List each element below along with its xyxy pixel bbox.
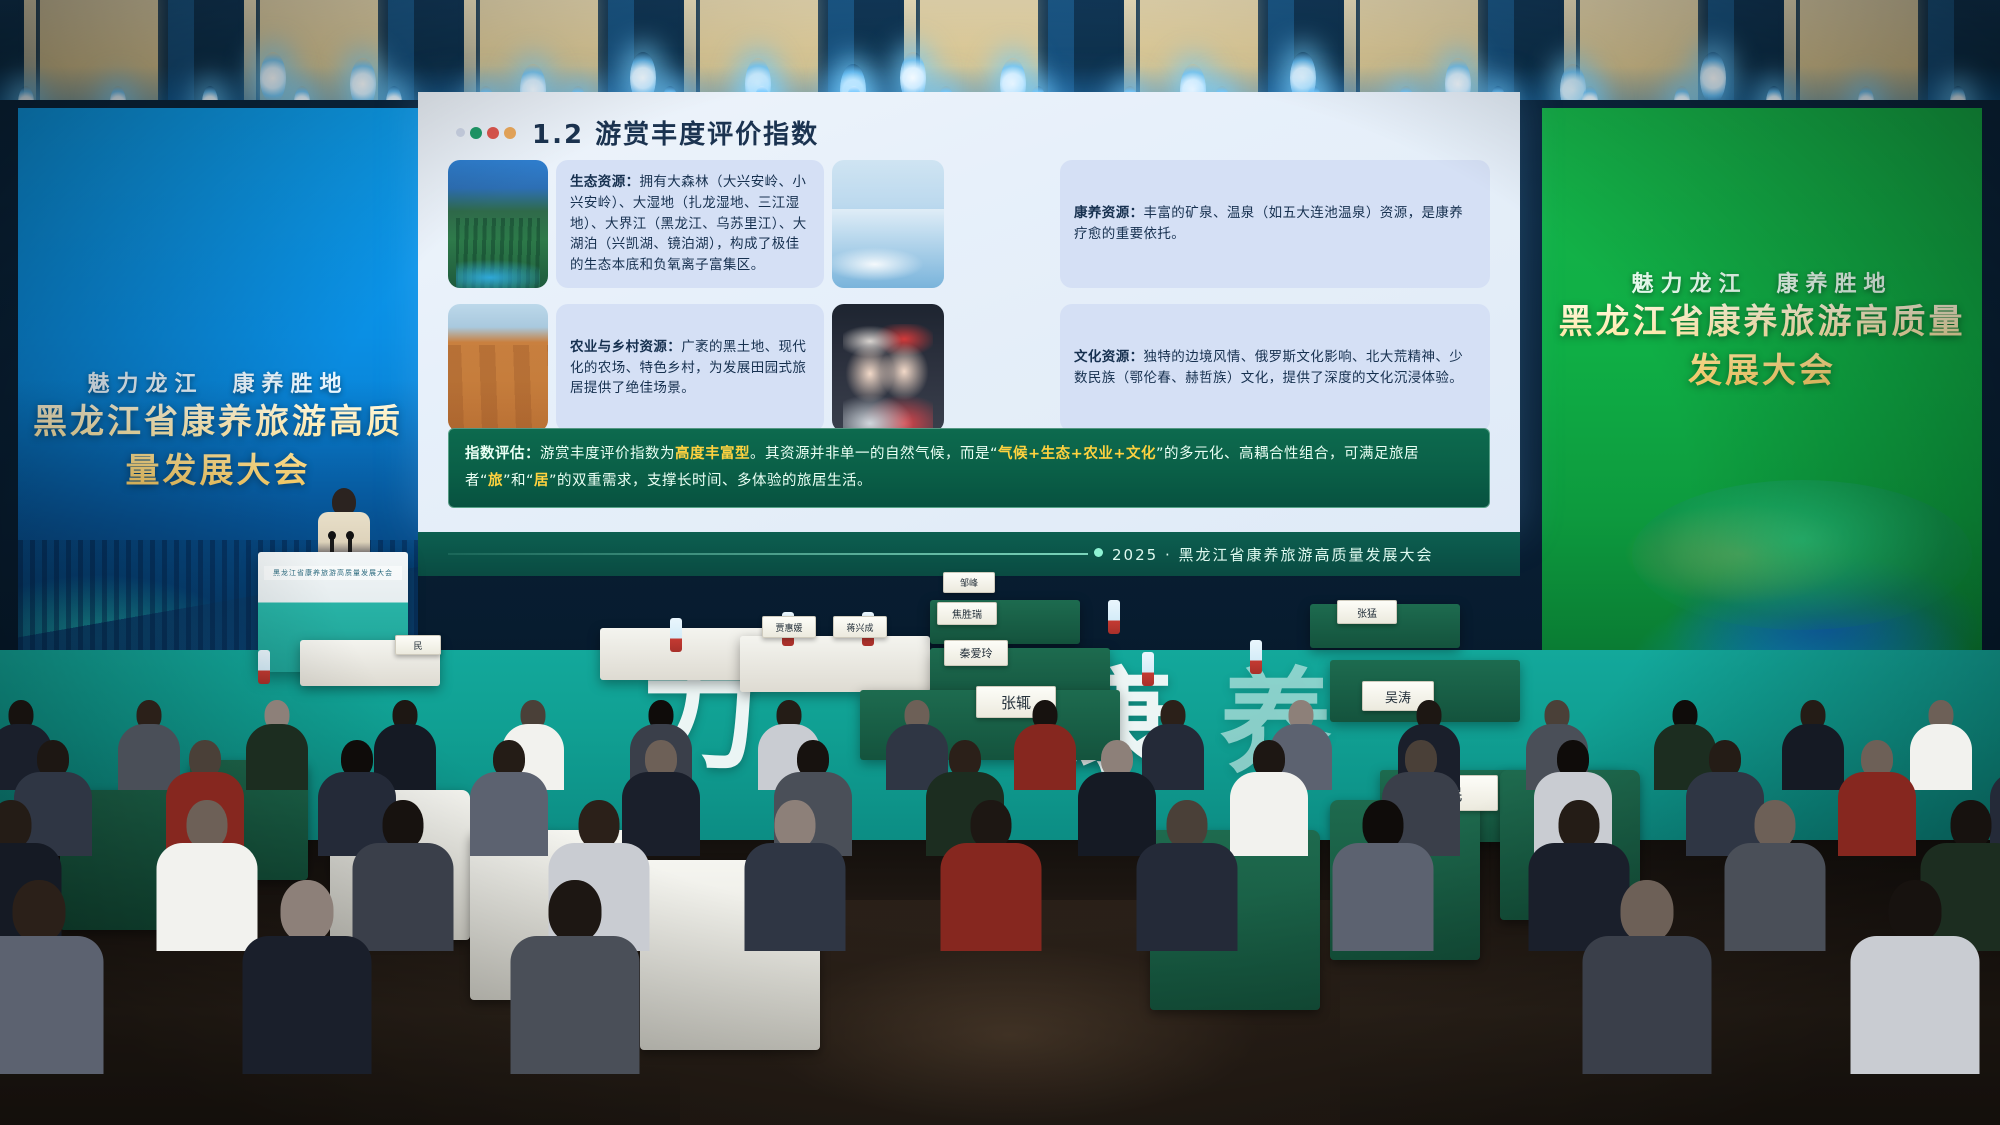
- bullet-dot-1: [456, 128, 465, 137]
- audience-head: [1558, 800, 1599, 849]
- led-left-title: 黑龙江省康养旅游高质量发展大会: [18, 394, 418, 492]
- name-placard-text: 秦爱玲: [960, 645, 993, 661]
- water-bottle: [258, 650, 270, 684]
- audience-shoulders: [246, 724, 308, 790]
- water-bottle: [1108, 600, 1120, 634]
- audience-shoulders: [1838, 772, 1916, 856]
- summary-highlight1: 高度丰富型: [675, 446, 750, 462]
- audience-head: [280, 880, 333, 942]
- name-placard: 蒋兴成: [833, 616, 887, 638]
- led-right-island-art: [1632, 480, 1972, 630]
- audience-shoulders: [1230, 772, 1308, 856]
- audience-member: [242, 880, 371, 1080]
- index-assessment-box: 指数评估：游赏丰度评价指数为高度丰富型。其资源并非单一的自然气候，而是“气候+生…: [448, 428, 1490, 508]
- hot-spring-photo: [832, 160, 944, 288]
- card-agriculture: 农业与乡村资源：广袤的黑土地、现代化的农场、特色乡村，为发展田园式旅居提供了绝佳…: [556, 304, 824, 432]
- water-bottle: [670, 618, 682, 652]
- summary-part4: ”和“: [503, 473, 534, 489]
- audience-shoulders: [0, 936, 103, 1074]
- name-placard: 邹峰: [943, 572, 995, 593]
- audience-head: [578, 800, 619, 849]
- audience-shoulders: [510, 936, 639, 1074]
- card-culture: 文化资源：独特的边境风情、俄罗斯文化影响、北大荒精神、少数民族（鄂伦春、赫哲族）…: [1060, 304, 1490, 432]
- audience-head: [1950, 800, 1991, 849]
- summary-lead: 指数评估：: [465, 446, 540, 462]
- audience-member: [1910, 700, 1972, 796]
- audience-shoulders: [242, 936, 371, 1074]
- audience-member: [1838, 740, 1916, 862]
- footer-dot-icon: [1094, 548, 1103, 557]
- presenter: [318, 488, 370, 560]
- name-placard-text: 蒋兴成: [846, 621, 873, 634]
- slide-header: 1.2 游赏丰度评价指数: [456, 114, 819, 151]
- summary-highlight3: 旅: [488, 473, 503, 489]
- name-placard-text: 焦胜瑞: [952, 606, 982, 621]
- bullet-dot-3: [487, 127, 499, 139]
- led-right-title: 黑龙江省康养旅游高质量发展大会: [1542, 294, 1982, 392]
- audience-head: [1754, 800, 1795, 849]
- audience-head: [1888, 880, 1941, 942]
- audience-head: [1166, 800, 1207, 849]
- audience-shoulders: [1136, 843, 1237, 951]
- audience-member: [1136, 800, 1237, 957]
- water-bottle: [1250, 640, 1262, 674]
- audience-head: [1620, 880, 1673, 942]
- audience-member: [470, 740, 548, 862]
- summary-highlight4: 居: [534, 473, 549, 489]
- name-placard: 张猛: [1337, 600, 1397, 624]
- stage-light: [1700, 52, 1726, 104]
- bullet-dot-4: [504, 127, 516, 139]
- audience-head: [186, 800, 227, 849]
- footer-rule: [448, 553, 1088, 555]
- resource-card-grid: 生态资源：拥有大森林（大兴安岭、小兴安岭）、大湿地（扎龙湿地、三江湿地）、大界江…: [448, 160, 1490, 432]
- audience-member: [1724, 800, 1825, 957]
- audience-shoulders: [1850, 936, 1979, 1074]
- summary-part1: 游赏丰度评价指数为: [540, 446, 675, 462]
- conference-table: [740, 636, 930, 692]
- audience-member: [0, 880, 103, 1080]
- farmland-photo: [448, 304, 548, 432]
- card-agriculture-heading: 农业与乡村资源：: [570, 339, 681, 355]
- presentation-slide: 1.2 游赏丰度评价指数 生态资源：拥有大森林（大兴安岭、小兴安岭）、大湿地（扎…: [418, 92, 1520, 532]
- summary-part5: ”的双重需求，支撑长时间、多体验的旅居生活。: [549, 473, 872, 489]
- audience-member: [510, 880, 639, 1080]
- audience-shoulders: [744, 843, 845, 951]
- audience-shoulders: [940, 843, 1041, 951]
- ethnic-costume-photo: [832, 304, 944, 432]
- led-panel-right: 魅力龙江 康养胜地 黑龙江省康养旅游高质量发展大会: [1542, 108, 1982, 650]
- water-bottle: [1142, 652, 1154, 686]
- stage-light: [260, 52, 286, 104]
- audience-head: [774, 800, 815, 849]
- podium-sign-text: 黑龙江省康养旅游高质量发展大会: [264, 566, 402, 580]
- card-wellness: 康养资源：丰富的矿泉、温泉（如五大连池温泉）资源，是康养疗愈的重要依托。: [1060, 160, 1490, 288]
- audience-member: [940, 800, 1041, 957]
- summary-part2: 。其资源并非单一的自然气候，而是“: [750, 446, 998, 462]
- audience-member: [1014, 700, 1076, 796]
- audience-shoulders: [1332, 843, 1433, 951]
- audience-member: [744, 800, 845, 957]
- audience-member: [1230, 740, 1308, 862]
- audience-shoulders: [1782, 724, 1844, 790]
- card-wellness-heading: 康养资源：: [1074, 205, 1144, 221]
- audience-head: [970, 800, 1011, 849]
- name-placard-text: 张猛: [1357, 605, 1377, 620]
- card-eco-heading: 生态资源：: [570, 174, 640, 190]
- summary-highlight2: 气候+生态+农业+文化: [998, 446, 1156, 462]
- footer-text: 2025 · 黑龙江省康养旅游高质量发展大会: [1112, 544, 1433, 565]
- name-placard-text: 贾惠媛: [775, 621, 802, 634]
- audience-shoulders: [470, 772, 548, 856]
- audience-member: [1332, 800, 1433, 957]
- name-placard-text: 邹峰: [960, 576, 978, 589]
- audience-head: [0, 800, 31, 849]
- audience-head: [12, 880, 65, 942]
- bullet-dot-2: [470, 127, 482, 139]
- audience-shoulders: [1014, 724, 1076, 790]
- audience-member: [1582, 880, 1711, 1080]
- audience-head: [1362, 800, 1403, 849]
- audience-member: [1782, 700, 1844, 796]
- audience-member: [1850, 880, 1979, 1080]
- podium-sign: 黑龙江省康养旅游高质量发展大会: [264, 566, 402, 580]
- screenshot-root: 魅力龙江 康养胜地 黑龙江省康养旅游高质量发展大会 魅力龙江 康养胜地 黑龙江省…: [0, 0, 2000, 1125]
- slide-title: 1.2 游赏丰度评价指数: [532, 114, 819, 151]
- screen-footer-bar: 2025 · 黑龙江省康养旅游高质量发展大会: [418, 532, 1520, 576]
- audience-member: [246, 700, 308, 796]
- name-placard: 贾惠媛: [762, 616, 816, 638]
- name-placard-text: 民: [413, 639, 422, 652]
- name-placard: 民: [395, 635, 441, 655]
- name-placard: 秦爱玲: [944, 640, 1008, 666]
- audience-shoulders: [1910, 724, 1972, 790]
- audience-shoulders: [1724, 843, 1825, 951]
- forest-river-photo: [448, 160, 548, 288]
- audience-shoulders: [1582, 936, 1711, 1074]
- bullet-dots-icon: [456, 127, 516, 139]
- card-eco: 生态资源：拥有大森林（大兴安岭、小兴安岭）、大湿地（扎龙湿地、三江湿地）、大界江…: [556, 160, 824, 288]
- audience-head: [382, 800, 423, 849]
- card-culture-heading: 文化资源：: [1074, 349, 1144, 365]
- audience-head: [548, 880, 601, 942]
- name-placard: 焦胜瑞: [937, 602, 997, 625]
